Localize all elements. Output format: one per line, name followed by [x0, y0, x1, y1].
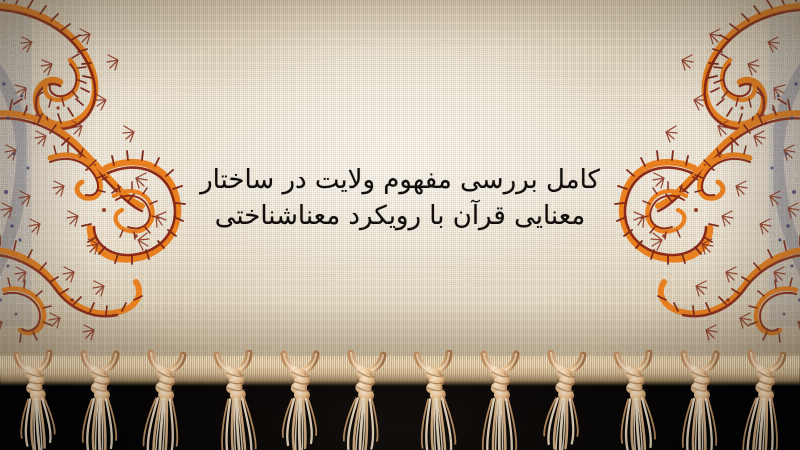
tassel	[739, 350, 795, 450]
title-line-1: کامل بررسی مفهوم ولایت در ساختار	[0, 162, 800, 198]
slide-title: کامل بررسی مفهوم ولایت در ساختار معنایی …	[0, 162, 800, 234]
tassel	[5, 350, 61, 450]
tassel	[72, 350, 128, 450]
tassel-row	[0, 350, 800, 450]
tassel	[272, 350, 328, 450]
tassel	[539, 350, 595, 450]
tassel	[339, 350, 395, 450]
tassel	[672, 350, 728, 450]
title-line-2: معنایی قرآن با رویکرد معناشناختی	[0, 198, 800, 234]
tassel	[205, 350, 261, 450]
tassel	[472, 350, 528, 450]
tassel	[139, 350, 195, 450]
tassel	[405, 350, 461, 450]
slide-canvas: کامل بررسی مفهوم ولایت در ساختار معنایی …	[0, 0, 800, 450]
tassel	[605, 350, 661, 450]
